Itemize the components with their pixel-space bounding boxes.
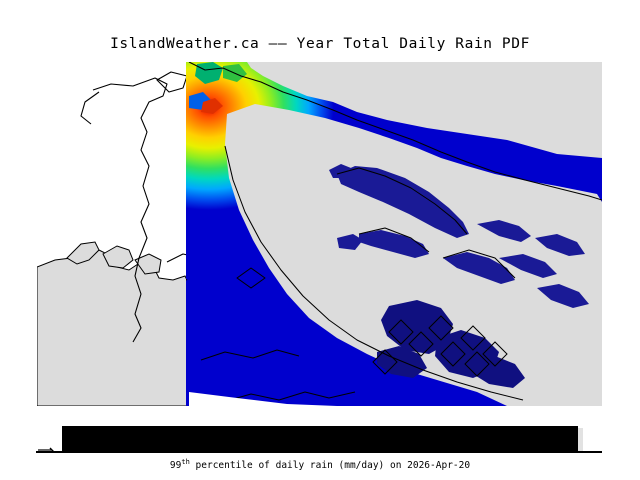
caption-prefix: 99: [170, 460, 181, 471]
page-title: IslandWeather.ca —— Year Total Daily Rai…: [0, 36, 640, 52]
map-svg: [37, 62, 602, 406]
colorbar-arrow-icon: [36, 446, 58, 454]
caption-superscript: th: [181, 458, 189, 466]
colorbar-caption: 99th percentile of daily rain (mm/day) o…: [0, 458, 640, 471]
caption-text: percentile of daily rain (mm/day) on 202…: [190, 460, 470, 471]
weather-figure: IslandWeather.ca —— Year Total Daily Rai…: [0, 0, 640, 480]
colorbar-baseline: [36, 451, 602, 453]
colorbar[interactable]: [62, 426, 578, 451]
colorbar-edge-cap: [578, 428, 583, 451]
map-panel[interactable]: [37, 62, 602, 406]
colorbar-fill: [62, 426, 578, 451]
